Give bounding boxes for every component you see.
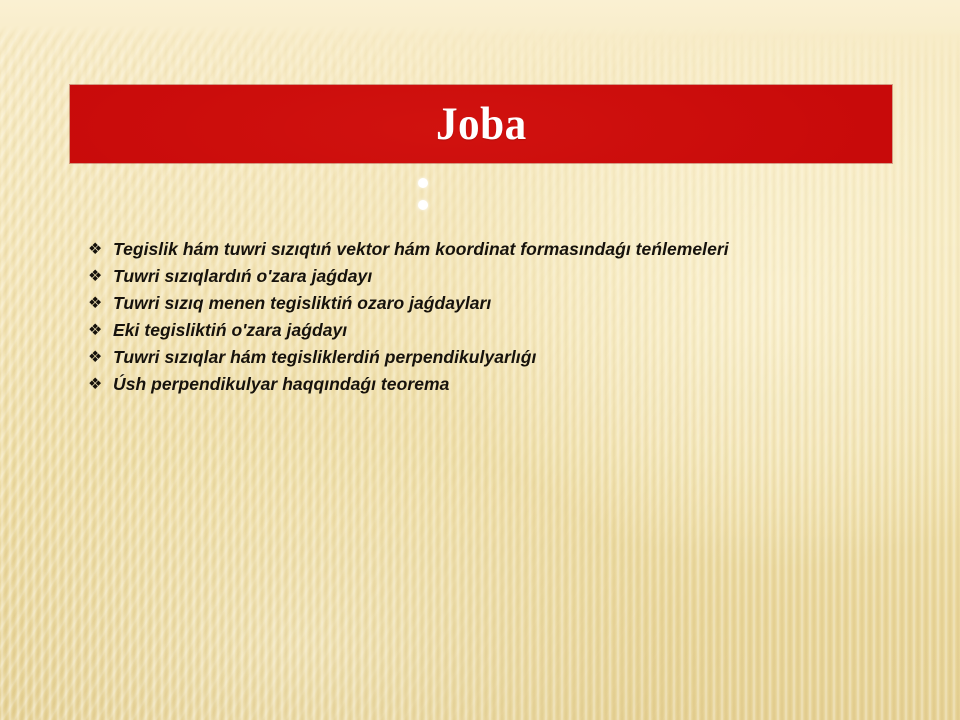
- slide-title: Joba: [436, 101, 527, 148]
- decorative-dot-stack: [418, 176, 432, 216]
- list-item: ❖ Tuwri sızıq menen tegisliktiń ozaro ja…: [88, 290, 898, 317]
- list-item: ❖ Tuwri sızıqlar hám tegisliklerdiń perp…: [88, 344, 898, 371]
- list-item: ❖ Tegislik hám tuwri sızıqtıń vektor hám…: [88, 236, 898, 263]
- diamond-bullet-icon: ❖: [88, 263, 108, 290]
- white-dot-icon-top: [418, 178, 428, 188]
- list-item-label: Eki tegisliktiń o'zara jaǵdayı: [113, 317, 898, 344]
- list-item: ❖ Tuwri sızıqlardıń o'zara jaǵdayı: [88, 263, 898, 290]
- presentation-slide: Joba ❖ Tegislik hám tuwri sızıqtıń vekto…: [0, 0, 960, 720]
- list-item: ❖ Eki tegisliktiń o'zara jaǵdayı: [88, 317, 898, 344]
- list-item-label: Tuwri sızıqlar hám tegisliklerdiń perpen…: [113, 344, 898, 371]
- list-item-label: Tegislik hám tuwri sızıqtıń vektor hám k…: [113, 236, 803, 263]
- diamond-bullet-icon: ❖: [88, 290, 108, 317]
- diamond-bullet-icon: ❖: [88, 344, 108, 371]
- list-item-label: Tuwri sızıq menen tegisliktiń ozaro jaǵd…: [113, 290, 898, 317]
- diamond-bullet-icon: ❖: [88, 371, 108, 398]
- list-item-label: Tuwri sızıqlardıń o'zara jaǵdayı: [113, 263, 898, 290]
- agenda-bullet-list: ❖ Tegislik hám tuwri sızıqtıń vektor hám…: [88, 236, 898, 398]
- list-item: ❖ Úsh perpendikulyar haqqındaǵı teorema: [88, 371, 898, 398]
- white-dot-icon-bottom: [418, 200, 428, 210]
- list-item-label: Úsh perpendikulyar haqqındaǵı teorema: [113, 371, 898, 398]
- slide-background-top-band: [0, 0, 960, 36]
- diamond-bullet-icon: ❖: [88, 317, 108, 344]
- diamond-bullet-icon: ❖: [88, 236, 108, 263]
- title-banner: Joba: [70, 85, 892, 163]
